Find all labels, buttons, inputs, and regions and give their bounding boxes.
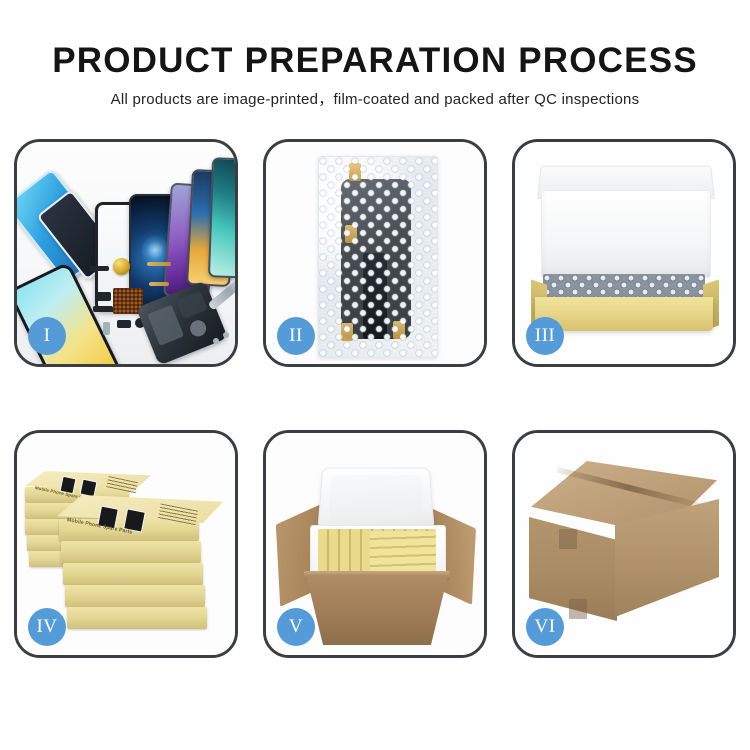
step-panel-6[interactable]: VI xyxy=(512,430,736,658)
step-panel-4[interactable]: Mobile Phone Spare Parts Mobile Phone Sp… xyxy=(14,430,238,658)
packed-yellow-boxes-icon xyxy=(370,531,436,571)
carton-body-icon xyxy=(306,575,448,645)
step-badge-6: VI xyxy=(526,608,564,646)
flex-cable-part-icon xyxy=(147,262,171,266)
chip-part-icon xyxy=(117,320,131,328)
speaker-part-icon xyxy=(89,266,109,271)
step-panel-5[interactable]: V xyxy=(263,430,487,658)
chip-part-icon xyxy=(93,306,113,312)
styrofoam-lid-icon xyxy=(317,468,434,529)
chip-part-icon xyxy=(95,292,111,301)
step-panel-2[interactable]: II xyxy=(263,139,487,367)
copper-coil-part-icon xyxy=(113,258,130,275)
flex-cable-part-icon xyxy=(149,282,169,286)
step-badge-5: V xyxy=(277,608,315,646)
yellow-box-front-icon xyxy=(535,297,713,331)
page-subtitle: All products are image-printed，film-coat… xyxy=(0,79,750,109)
screw-part-icon xyxy=(213,338,219,344)
carton-label-tab-icon xyxy=(569,599,587,619)
screw-part-icon xyxy=(223,332,229,338)
step-badge-1: I xyxy=(28,317,66,355)
teal-gradient-phone-icon xyxy=(208,157,235,279)
carton-label-tab-icon xyxy=(559,529,577,549)
white-foam-sheet-icon xyxy=(541,190,711,278)
step-badge-2: II xyxy=(277,317,315,355)
battery-part-icon xyxy=(103,322,110,335)
step-badge-4: IV xyxy=(28,608,66,646)
page-title: PRODUCT PREPARATION PROCESS xyxy=(0,0,750,79)
bubble-wrap-bag-icon xyxy=(318,156,438,358)
process-step-grid: I II III xyxy=(14,139,736,685)
step-badge-3: III xyxy=(526,317,564,355)
step-panel-1[interactable]: I xyxy=(14,139,238,367)
page-header: PRODUCT PREPARATION PROCESS All products… xyxy=(0,0,750,109)
step-panel-3[interactable]: III xyxy=(512,139,736,367)
